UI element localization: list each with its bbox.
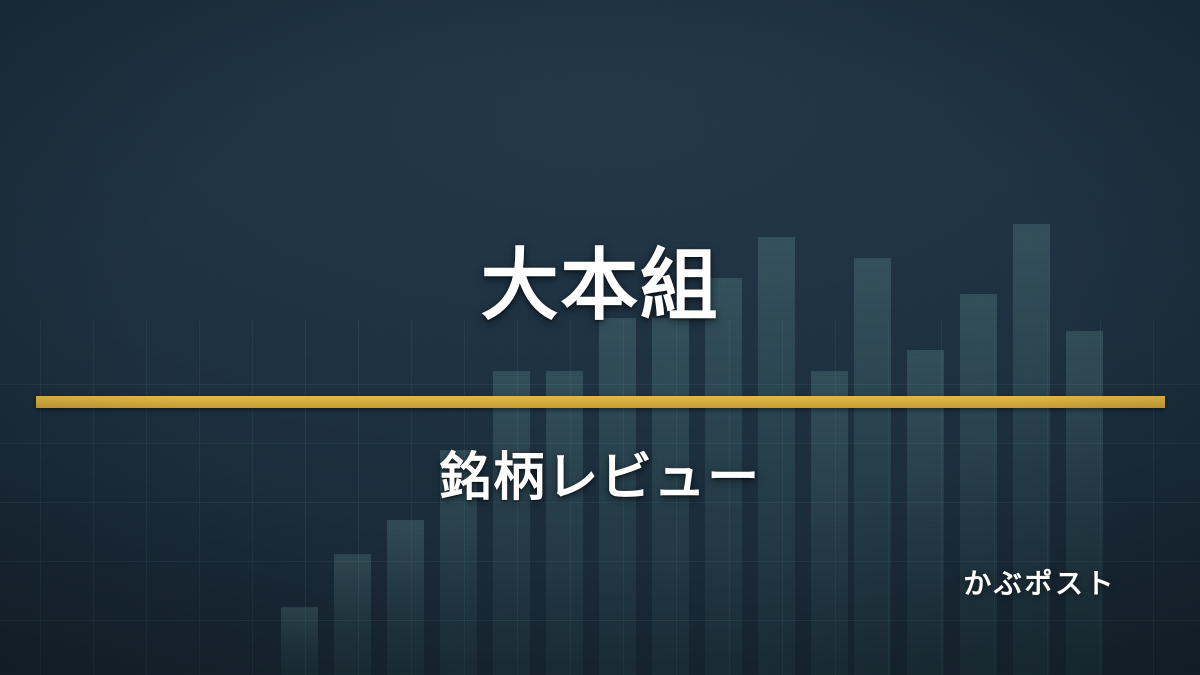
credit-byline: かぶポスト — [963, 570, 1116, 598]
chart-bar — [334, 554, 371, 675]
page-title: 大本組 — [0, 246, 1200, 324]
chart-bar — [546, 371, 583, 675]
slide-canvas: 大本組 銘柄レビュー かぶポスト — [0, 0, 1200, 675]
chart-bar — [387, 520, 424, 675]
page-subtitle: 銘柄レビュー — [0, 452, 1200, 504]
chart-bar — [493, 371, 530, 675]
gold-divider-rule — [36, 396, 1165, 408]
chart-bar — [811, 371, 848, 675]
chart-bar — [281, 607, 318, 675]
